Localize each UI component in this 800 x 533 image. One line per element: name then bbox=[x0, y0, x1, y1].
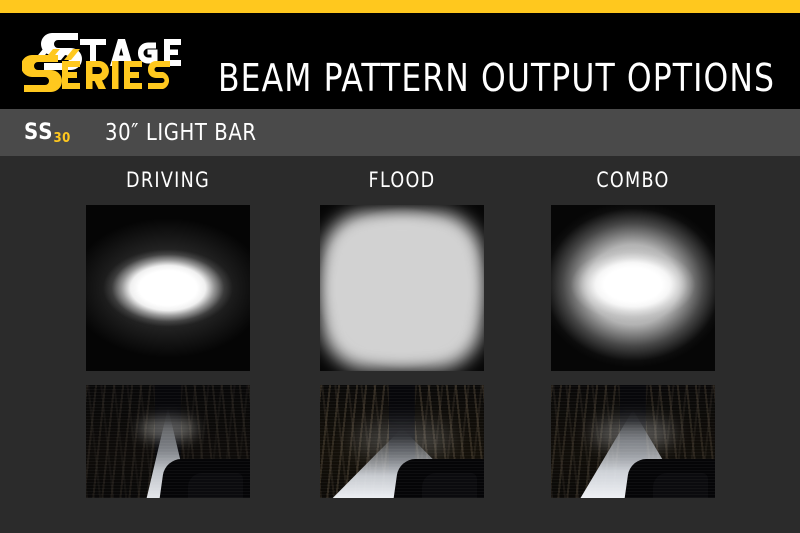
beam-pattern-infographic: BEAM PATTERN OUTPUT OPTIONS SS30 30″ LIG… bbox=[0, 0, 800, 533]
product-name: 30″ LIGHT BAR bbox=[105, 120, 257, 146]
column-header-driving: DRIVING bbox=[92, 168, 245, 192]
beam-pattern-combo bbox=[551, 205, 715, 371]
road-photo-combo bbox=[551, 385, 715, 498]
sku-suffix: 30 bbox=[54, 131, 71, 146]
photo-grain bbox=[86, 385, 250, 498]
column-combo: COMBO bbox=[551, 156, 715, 498]
photo-grain bbox=[551, 385, 715, 498]
road-photo-flood bbox=[320, 385, 484, 498]
sku-prefix: SS bbox=[24, 120, 54, 145]
column-flood: FLOOD bbox=[320, 156, 484, 498]
sku-badge: SS30 bbox=[24, 122, 71, 147]
header-bar: BEAM PATTERN OUTPUT OPTIONS bbox=[0, 13, 800, 109]
column-driving: DRIVING bbox=[86, 156, 250, 498]
beam-pattern-flood bbox=[320, 205, 484, 371]
stage-series-logo bbox=[22, 25, 182, 97]
page-title: BEAM PATTERN OUTPUT OPTIONS bbox=[218, 59, 775, 97]
road-photo-driving bbox=[86, 385, 250, 498]
top-accent-rule bbox=[0, 0, 800, 13]
beam-pattern-driving bbox=[86, 205, 250, 371]
product-subbar: SS30 30″ LIGHT BAR bbox=[0, 109, 800, 156]
beam-comparison-grid: DRIVING FLOOD bbox=[0, 156, 800, 533]
column-header-combo: COMBO bbox=[557, 168, 710, 192]
column-header-flood: FLOOD bbox=[326, 168, 479, 192]
photo-grain bbox=[320, 385, 484, 498]
